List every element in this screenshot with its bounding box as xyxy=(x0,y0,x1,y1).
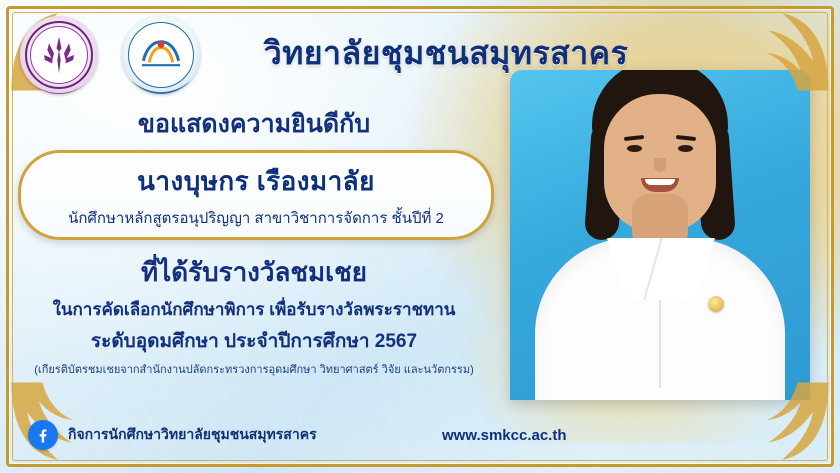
award-headline: ที่ได้รับรางวัลชมเชย xyxy=(14,252,494,293)
award-footnote: (เกียรติบัตรชมเชยจากสำนักงานปลัดกระทรวงก… xyxy=(6,360,502,378)
eye-right xyxy=(678,145,693,152)
shirt-shape xyxy=(535,238,785,400)
facebook-icon[interactable] xyxy=(28,420,58,450)
page-title: วิทยาลัยชุมชนสมุทรสาคร xyxy=(206,28,686,79)
congratulations-text: ขอแสดงความยินดีกับ xyxy=(14,104,494,144)
shirt-pin-icon xyxy=(708,296,724,312)
name-plate: นางบุษกร เรืองมาลัย นักศึกษาหลักสูตรอนุป… xyxy=(18,150,494,240)
award-detail-line-2: ระดับอุดมศึกษา ประจำปีการศึกษา 2567 xyxy=(6,326,502,356)
certificate-card: วิทยาลัยชุมชนสมุทรสาคร ขอแสดงความยินดีกั… xyxy=(0,0,840,473)
recipient-program: นักศึกษาหลักสูตรอนุปริญญา สาขาวิชาการจัด… xyxy=(68,206,444,230)
facebook-page-label: กิจการนักศึกษาวิทยาลัยชุมชนสมุทรสาคร xyxy=(68,424,317,446)
eye-left xyxy=(627,145,642,152)
nose-shape xyxy=(654,158,666,172)
student-photo xyxy=(510,70,810,400)
website-url[interactable]: www.smkcc.ac.th xyxy=(442,427,567,444)
footer: กิจการนักศึกษาวิทยาลัยชุมชนสมุทรสาคร www… xyxy=(12,409,828,461)
recipient-name: นางบุษกร เรืองมาลัย xyxy=(137,161,375,202)
award-detail-line-1: ในการคัดเลือกนักศึกษาพิการ เพื่อรับรางวั… xyxy=(6,296,502,323)
community-college-logo xyxy=(122,16,200,94)
portrait-container xyxy=(510,70,810,400)
college-seal-logo xyxy=(20,16,98,94)
